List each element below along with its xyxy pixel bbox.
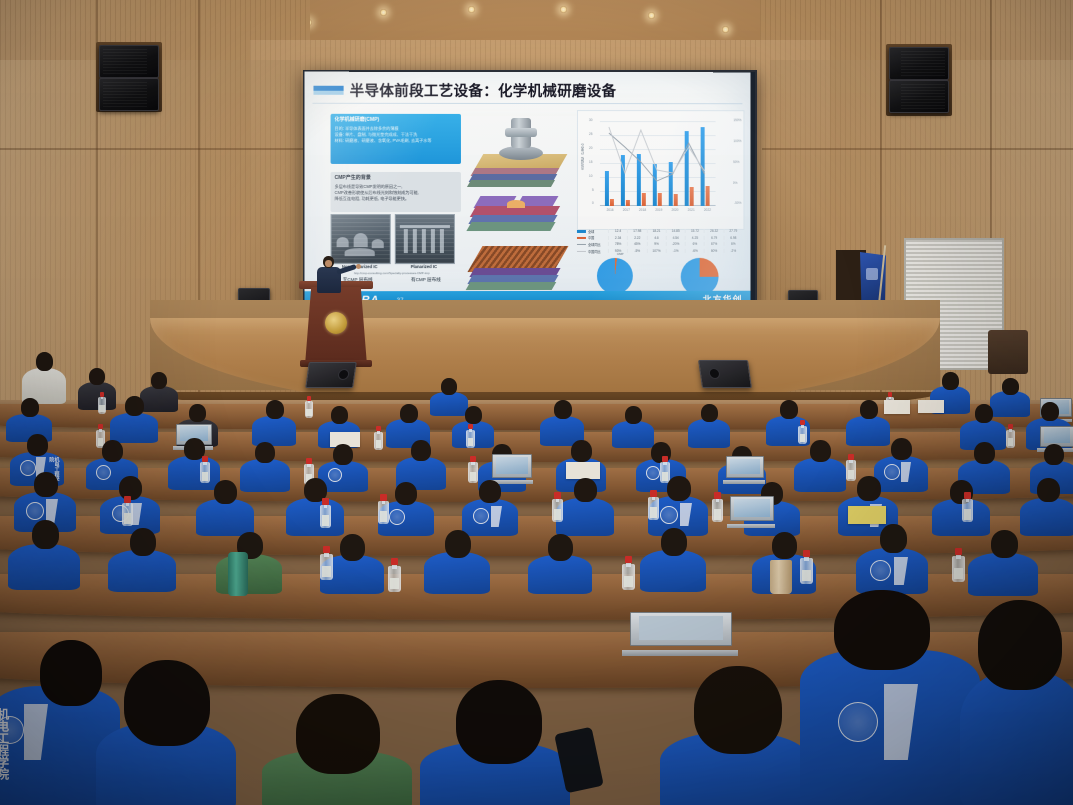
illustration-cmp-polisher (463, 112, 571, 188)
ceiling-light (648, 12, 655, 19)
audience-person (556, 478, 614, 534)
legend-swatch-global-growth (577, 244, 586, 245)
audience-person (856, 524, 928, 592)
legend-value: 2.34 (608, 236, 627, 240)
water-bottle[interactable] (712, 492, 723, 522)
audience-person-foreground (960, 600, 1073, 805)
legend-value: 6.79 (704, 236, 723, 240)
stage-floor-monitor (698, 360, 752, 388)
thermos-bottle[interactable] (228, 552, 248, 596)
audience-person (688, 404, 730, 446)
pie-label-cmp: CMP (617, 252, 624, 256)
legend-value: -2% (723, 249, 742, 253)
chart-x-axis: 2016 2017 2018 2019 2020 2021 2022 (602, 208, 716, 212)
legend-value: -20% (666, 242, 685, 246)
audience-person (424, 530, 490, 592)
legend-value: 18.21 (646, 229, 665, 233)
legend-value: 15.72 (685, 229, 704, 233)
sem-caption-right-cn: 有CMP 层布线 (395, 277, 457, 283)
legend-value: 14.85 (666, 229, 685, 233)
water-bottle[interactable] (122, 496, 133, 526)
legend-label-global-growth: 全球同比 (588, 242, 608, 247)
ceiling-light (560, 6, 567, 13)
legend-value: -6% (685, 249, 704, 253)
water-bottle[interactable] (622, 556, 635, 590)
legend-value: 60% (704, 249, 723, 253)
shirt-text: 机电工程学院 (0, 708, 9, 780)
chart-y-axis-label: 市场规模（亿美元） (580, 141, 585, 170)
legend-value: -5% (627, 249, 646, 253)
paper-cup[interactable] (770, 560, 792, 594)
water-bottle[interactable] (962, 492, 973, 522)
laptop[interactable] (630, 612, 730, 656)
audience-person (252, 400, 296, 444)
audience-person (108, 528, 176, 590)
audience-person (22, 352, 66, 404)
background-box-heading: CMP产生的背景 (335, 175, 457, 182)
x-tick: 2017 (618, 208, 634, 212)
legend-value: -1% (666, 249, 685, 253)
audience-person (196, 480, 254, 534)
legend-value: 45% (627, 242, 646, 246)
wall-seam (762, 148, 1073, 150)
water-bottle[interactable] (320, 498, 331, 528)
legend-value: 4.54 (666, 236, 685, 240)
audience-person-foreground (262, 694, 412, 805)
slide-accent-bar (313, 86, 343, 95)
region-share-pie (671, 258, 749, 294)
audience-person (540, 400, 584, 444)
legend-value: 78% (608, 242, 627, 246)
line-array-speaker (99, 78, 159, 111)
tablet[interactable] (726, 456, 762, 484)
audience-person (8, 520, 80, 588)
water-bottle[interactable] (374, 426, 383, 450)
sem-image-planarized (395, 214, 455, 264)
speaker-grille (103, 82, 147, 107)
lecture-hall-photo: 半导体前段工艺设备：化学机械研磨设备 化学机械研磨(CMP) 目的: 半导体表面… (0, 0, 1073, 805)
audience-person (216, 532, 282, 592)
legend-value: 26.32 (704, 229, 723, 233)
x-tick: 2016 (602, 208, 618, 212)
cmp-share-pie: CMP (581, 258, 659, 294)
market-size-chart: 市场规模（亿美元） 30 25 20 15 10 5 0 150% 100% 5… (577, 110, 744, 230)
sem-caption-right: Planarized IC (395, 264, 453, 269)
water-bottle[interactable] (952, 548, 965, 582)
chart-plot-area (602, 121, 716, 206)
line-array-speaker (99, 45, 159, 78)
audience-person (640, 528, 706, 590)
water-bottle[interactable] (800, 550, 813, 584)
slide-title-rule (312, 103, 742, 104)
water-bottle[interactable] (200, 456, 210, 483)
legend-label-china-growth: 中国同比 (588, 249, 608, 254)
illustration-multilayer-interconnect (463, 242, 571, 296)
ceiling-light (468, 6, 475, 13)
audience-person (932, 480, 990, 534)
ceiling-light (380, 9, 387, 16)
speaker-grille (901, 51, 945, 76)
info-box-heading: 化学机械研磨(CMP) (335, 117, 457, 124)
wall-seam (0, 148, 310, 150)
legend-row-china-growth: 中国同比 93% -5% 107% -1% -6% 60% -2% (577, 248, 742, 255)
legend-value: 12.4 (608, 229, 627, 233)
audience-person (462, 480, 518, 534)
flag-emblem (866, 268, 878, 280)
audience-person-foreground (420, 680, 570, 805)
x-tick: 2020 (667, 208, 683, 212)
legend-swatch-china (577, 237, 586, 240)
legend-value: 4.25 (685, 236, 704, 240)
water-bottle[interactable] (320, 546, 333, 580)
x-tick: 2019 (651, 208, 667, 212)
water-bottle[interactable] (305, 396, 313, 418)
info-box-line: 设备: 单片、盘制, 与抛光垫完成成、干法干洗 (335, 132, 418, 137)
water-bottle[interactable] (378, 494, 389, 524)
audience-person (286, 478, 344, 534)
line-array-speaker (889, 47, 949, 80)
stage-floor-monitor (305, 362, 357, 388)
water-bottle[interactable] (98, 392, 106, 414)
x-tick: 2018 (634, 208, 650, 212)
background-box-line: CMP改善形貌使从后布线光刻和蚀刻成为可能, (335, 190, 419, 195)
tablet[interactable] (730, 496, 772, 528)
audience-person (968, 530, 1038, 594)
audience-person-foreground (800, 590, 980, 805)
legend-label-china: 中国 (588, 235, 608, 240)
water-bottle[interactable] (388, 558, 401, 592)
notebook[interactable] (848, 506, 886, 524)
audience-person (1020, 478, 1073, 534)
sem-source-url: http://cmp-consulting.com/Specialty-proc… (331, 271, 453, 275)
notebook[interactable] (918, 400, 944, 413)
water-bottle[interactable] (552, 492, 563, 522)
background-box-line: 降低互连电阻, 功耗更低, 电子导能更快。 (335, 196, 409, 201)
side-chair[interactable] (988, 330, 1028, 374)
audience-person (612, 406, 654, 446)
legend-label-global: 全球 (588, 229, 608, 234)
legend-value: 9% (646, 242, 665, 246)
legend-value: 2.22 (627, 236, 646, 240)
presenter (316, 256, 342, 296)
x-tick: 2021 (683, 208, 699, 212)
slide-info-box: 化学机械研磨(CMP) 目的: 半导体表面并去除多余的薄膜 设备: 单片、盘制,… (331, 114, 461, 164)
legend-value: 6% (685, 242, 704, 246)
audience-person-foreground (96, 660, 236, 805)
audience-person (110, 396, 158, 442)
legend-swatch-china-growth (577, 251, 586, 252)
chart-legend-table: 全球 12.4 17.98 18.21 14.85 15.72 26.32 27… (577, 228, 742, 254)
legend-value: 27.79 (723, 229, 742, 233)
projection-screen: 半导体前段工艺设备：化学机械研磨设备 化学机械研磨(CMP) 目的: 半导体表面… (304, 72, 750, 309)
legend-value: 6% (723, 242, 742, 246)
slide-background-box: CMP产生的背景 多层布线是导致CMP发明的原因之一, CMP改善形貌使从后布线… (331, 172, 461, 212)
speaker-grille (103, 49, 147, 74)
legend-value: 107% (646, 249, 665, 253)
speaker-grille (901, 84, 945, 109)
podium-emblem (325, 312, 347, 334)
legend-swatch-global (577, 230, 586, 233)
legend-value: 4.6 (646, 236, 665, 240)
legend-value: 17.98 (627, 229, 646, 233)
presenter-hand (356, 264, 361, 269)
info-box-line: 目的: 半导体表面并去除多余的薄膜 (335, 126, 399, 131)
water-bottle[interactable] (468, 456, 478, 483)
legend-value: 6.98 (723, 236, 742, 240)
ceiling-light (722, 26, 729, 33)
audience-person-foreground (660, 666, 810, 805)
line-array-speaker (889, 80, 949, 113)
audience-person (528, 534, 592, 592)
water-bottle[interactable] (466, 424, 475, 448)
background-box-line: 多层布线是导致CMP发明的原因之一, (335, 184, 403, 189)
illustration-cross-section (463, 190, 571, 240)
slide-title: 半导体前段工艺设备：化学机械研磨设备 (350, 80, 617, 101)
notebook[interactable] (566, 462, 600, 479)
presenter-face (325, 260, 332, 267)
audience-person (396, 440, 446, 488)
x-tick: 2022 (699, 208, 715, 212)
info-box-line: 材料: 研磨液、研磨液、含氧化, PVA毛刷, 去离子水等 (335, 137, 432, 142)
water-bottle[interactable] (648, 490, 659, 520)
growth-rate-lines (602, 121, 716, 206)
legend-value: 67% (704, 242, 723, 246)
